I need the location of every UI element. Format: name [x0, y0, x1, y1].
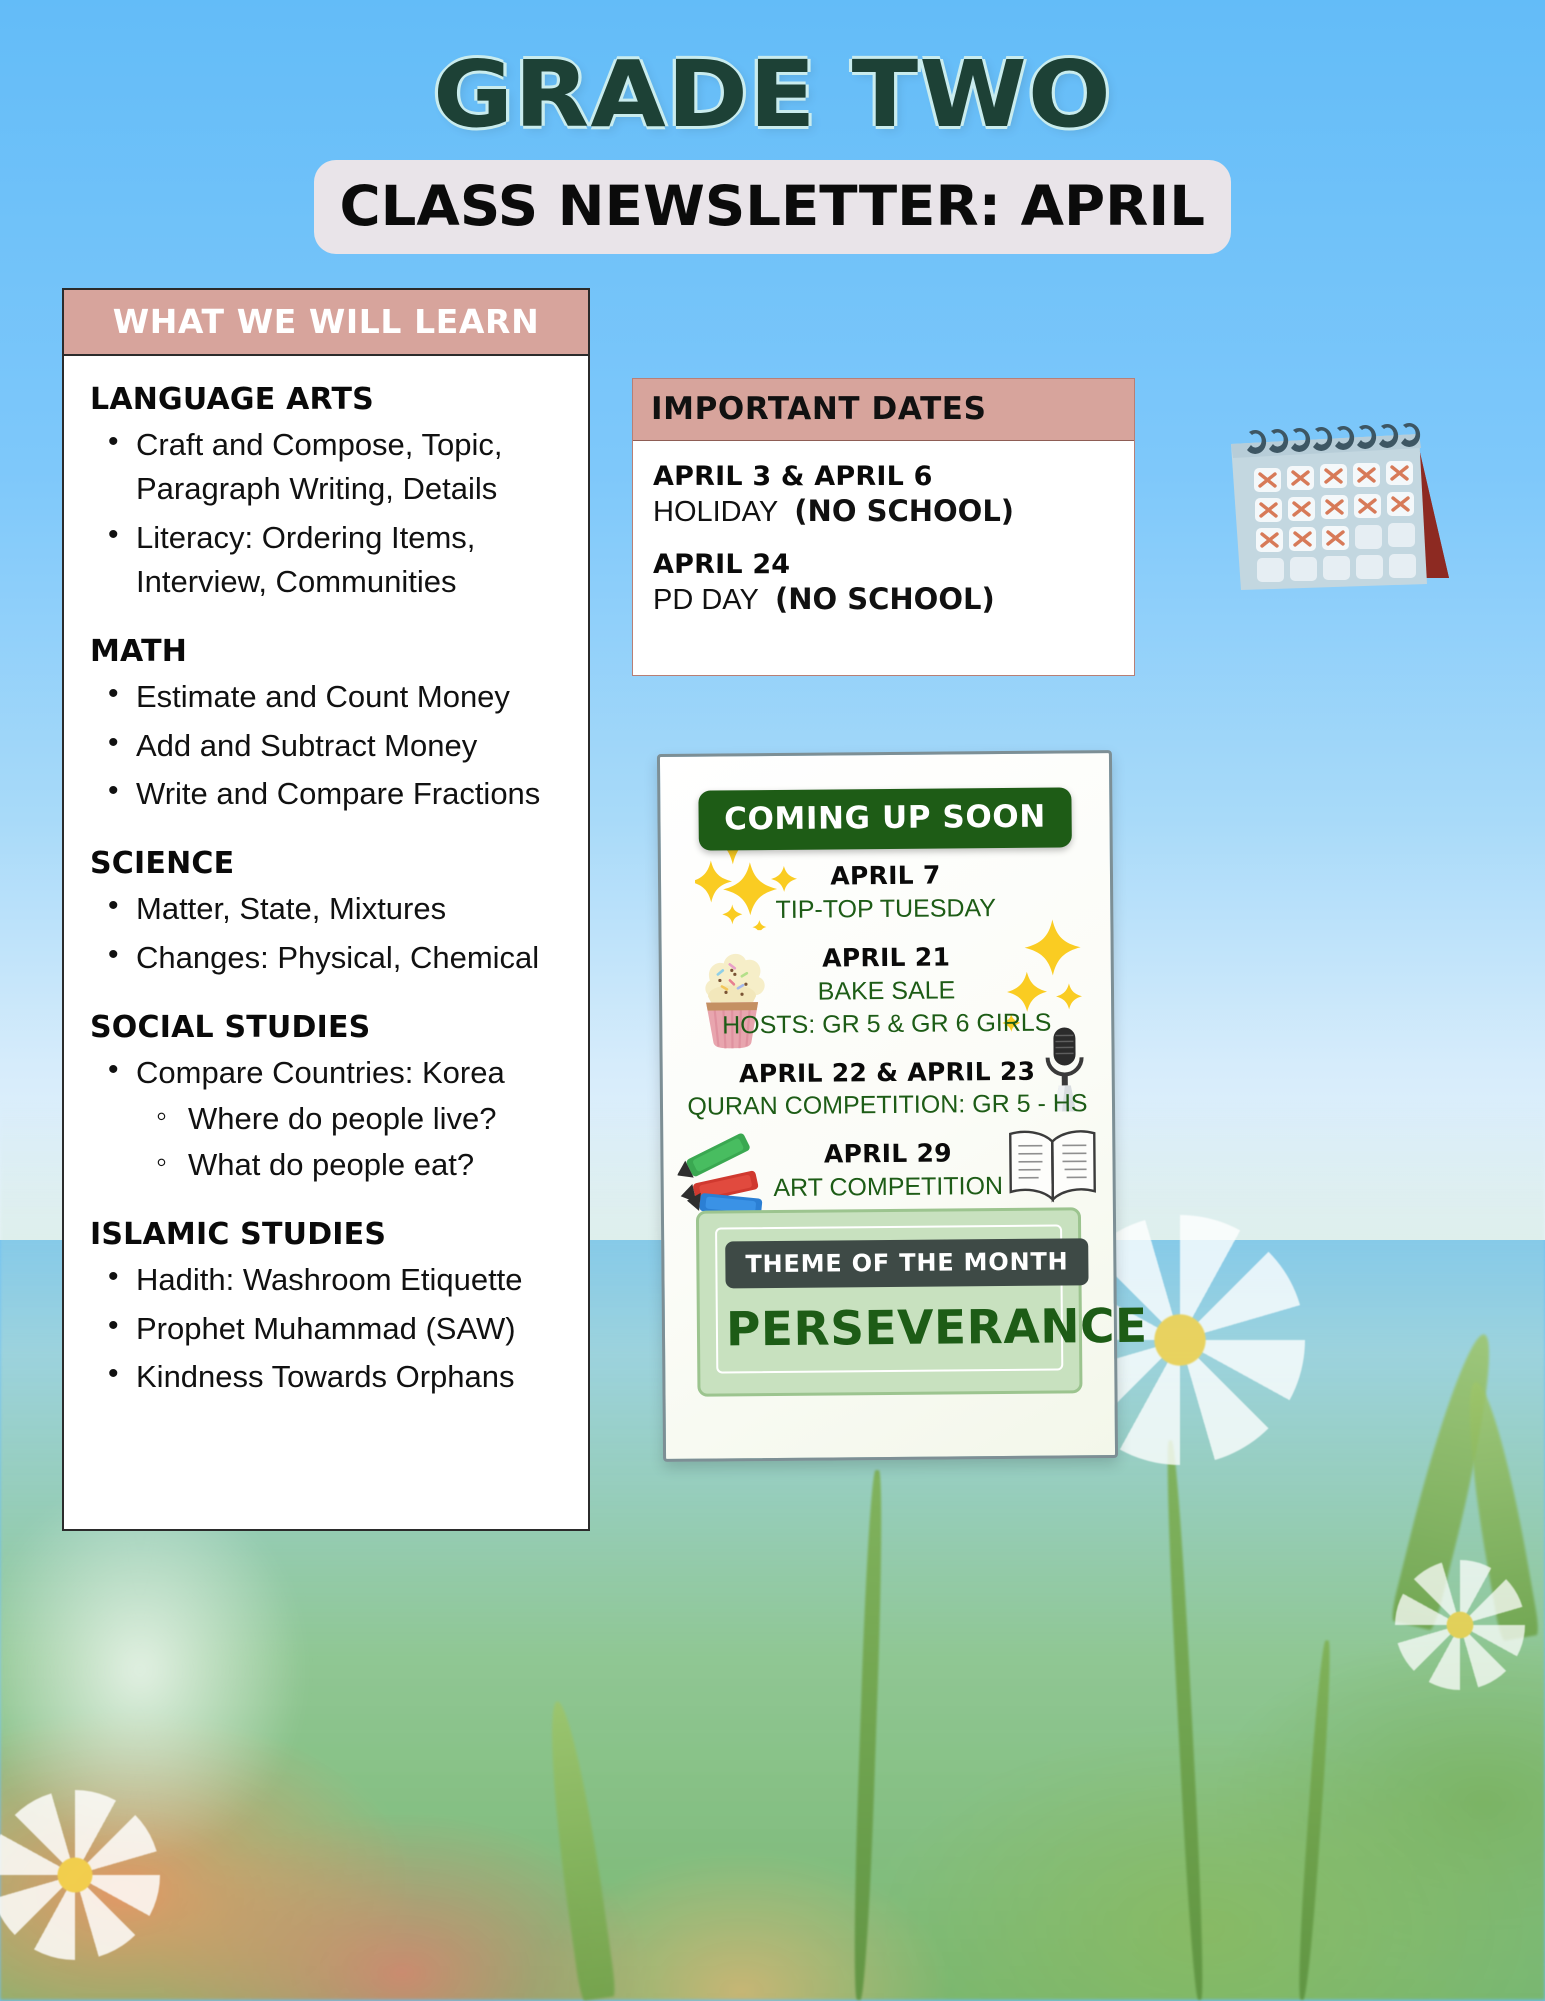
subject-topic-list: Estimate and Count MoneyAdd and Subtract…: [90, 675, 564, 816]
dates-card-title: IMPORTANT DATES: [651, 391, 1134, 427]
subject-title: SOCIAL STUDIES: [90, 1010, 564, 1045]
important-date-desc-text: HOLIDAY: [653, 496, 778, 528]
list-item: Compare Countries: KoreaWhere do people …: [90, 1051, 564, 1187]
subject-section: MATHEstimate and Count MoneyAdd and Subt…: [90, 634, 564, 816]
subject-section: ISLAMIC STUDIESHadith: Washroom Etiquett…: [90, 1217, 564, 1399]
sub-list-item: What do people eat?: [136, 1143, 564, 1187]
event-item: APRIL 22 & APRIL 23QURAN COMPETITION: GR…: [663, 1054, 1113, 1125]
important-date-entry: APRIL 3 & APRIL 6HOLIDAY (NO SCHOOL): [653, 461, 1116, 529]
learn-card-body: LANGUAGE ARTSCraft and Compose, Topic, P…: [64, 356, 588, 1409]
list-item: Estimate and Count Money: [90, 675, 564, 719]
sub-list-item: Where do people live?: [136, 1097, 564, 1141]
subject-section: SCIENCEMatter, State, MixturesChanges: P…: [90, 846, 564, 980]
important-date-label: APRIL 3 & APRIL 6: [653, 461, 1116, 492]
event-name: TIP-TOP TUESDAY: [661, 891, 1110, 928]
list-item: Kindness Towards Orphans: [90, 1355, 564, 1399]
dates-card-body: APRIL 3 & APRIL 6HOLIDAY (NO SCHOOL)APRI…: [633, 441, 1134, 617]
event-detail: HOSTS: GR 5 & GR 6 GIRLS: [662, 1006, 1111, 1043]
coming-up-soon-card: COMING UP SOON APRIL 7TIP-TOP TUESDAYAPR…: [657, 750, 1118, 1462]
event-date: APRIL 7: [661, 857, 1110, 895]
theme-badge: THEME OF THE MONTH: [725, 1238, 1088, 1288]
event-date: APRIL 29: [663, 1135, 1112, 1173]
list-item: Prophet Muhammad (SAW): [90, 1307, 564, 1351]
event-item: APRIL 29ART COMPETITION: [663, 1135, 1113, 1206]
subject-section: SOCIAL STUDIESCompare Countries: KoreaWh…: [90, 1010, 564, 1187]
subject-subtopic-list: Where do people live?What do people eat?: [136, 1097, 564, 1187]
list-item: Hadith: Washroom Etiquette: [90, 1258, 564, 1302]
page-subtitle: CLASS NEWSLETTER: APRIL: [340, 174, 1205, 238]
list-item: Literacy: Ordering Items, Interview, Com…: [90, 516, 564, 605]
important-date-entry: APRIL 24PD DAY (NO SCHOOL): [653, 549, 1116, 617]
important-date-note: (NO SCHOOL): [794, 494, 1014, 528]
important-date-label: APRIL 24: [653, 549, 1116, 580]
subject-topic-list: Matter, State, MixturesChanges: Physical…: [90, 887, 564, 980]
what-we-will-learn-card: WHAT WE WILL LEARN LANGUAGE ARTSCraft an…: [62, 288, 590, 1531]
subject-title: ISLAMIC STUDIES: [90, 1217, 564, 1252]
important-date-desc-text: PD DAY: [653, 584, 759, 616]
theme-inner-frame: THEME OF THE MONTH PERSEVERANCE: [715, 1224, 1063, 1373]
events-list: APRIL 7TIP-TOP TUESDAYAPRIL 21BAKE SALEH…: [661, 857, 1113, 1221]
subtitle-chip: CLASS NEWSLETTER: APRIL: [314, 160, 1230, 254]
page-title: GRADE TWO: [0, 48, 1545, 142]
list-item: Changes: Physical, Chemical: [90, 936, 564, 980]
subject-section: LANGUAGE ARTSCraft and Compose, Topic, P…: [90, 382, 564, 604]
event-item: APRIL 7TIP-TOP TUESDAY: [661, 857, 1111, 928]
newsletter-header: GRADE TWO CLASS NEWSLETTER: APRIL: [0, 0, 1545, 254]
subject-title: LANGUAGE ARTS: [90, 382, 564, 417]
important-date-note: (NO SCHOOL): [775, 582, 995, 616]
subject-topic-list: Craft and Compose, Topic, Paragraph Writ…: [90, 423, 564, 604]
subject-topic-list: Hadith: Washroom EtiquetteProphet Muhamm…: [90, 1258, 564, 1399]
coming-up-soon-label: COMING UP SOON: [724, 799, 1046, 838]
important-date-description: HOLIDAY (NO SCHOOL): [653, 494, 1116, 529]
subject-title: SCIENCE: [90, 846, 564, 881]
event-name: ART COMPETITION: [664, 1169, 1113, 1206]
event-date: APRIL 21: [662, 939, 1111, 977]
list-item: Matter, State, Mixtures: [90, 887, 564, 931]
daisy-flower: [1395, 1560, 1525, 1690]
important-date-description: PD DAY (NO SCHOOL): [653, 582, 1116, 617]
coming-up-soon-badge: COMING UP SOON: [698, 787, 1072, 850]
event-date: APRIL 22 & APRIL 23: [663, 1054, 1112, 1092]
theme-of-the-month-box: THEME OF THE MONTH PERSEVERANCE: [696, 1207, 1083, 1396]
theme-badge-label: THEME OF THE MONTH: [745, 1247, 1068, 1278]
event-name: QURAN COMPETITION: GR 5 - HS: [663, 1087, 1112, 1124]
subject-topic-list: Compare Countries: KoreaWhere do people …: [90, 1051, 564, 1187]
dates-card-header: IMPORTANT DATES: [633, 379, 1134, 441]
important-dates-card: IMPORTANT DATES APRIL 3 & APRIL 6HOLIDAY…: [632, 378, 1135, 676]
list-item: Write and Compare Fractions: [90, 772, 564, 816]
event-name: BAKE SALE: [662, 973, 1111, 1010]
list-item: Craft and Compose, Topic, Paragraph Writ…: [90, 423, 564, 512]
theme-value: PERSEVERANCE: [726, 1300, 1053, 1358]
event-item: APRIL 21BAKE SALEHOSTS: GR 5 & GR 6 GIRL…: [662, 939, 1112, 1043]
subject-title: MATH: [90, 634, 564, 669]
learn-card-header: WHAT WE WILL LEARN: [64, 290, 588, 356]
learn-card-title: WHAT WE WILL LEARN: [64, 302, 588, 341]
list-item: Add and Subtract Money: [90, 724, 564, 768]
desk-calendar-icon: [1213, 408, 1478, 598]
